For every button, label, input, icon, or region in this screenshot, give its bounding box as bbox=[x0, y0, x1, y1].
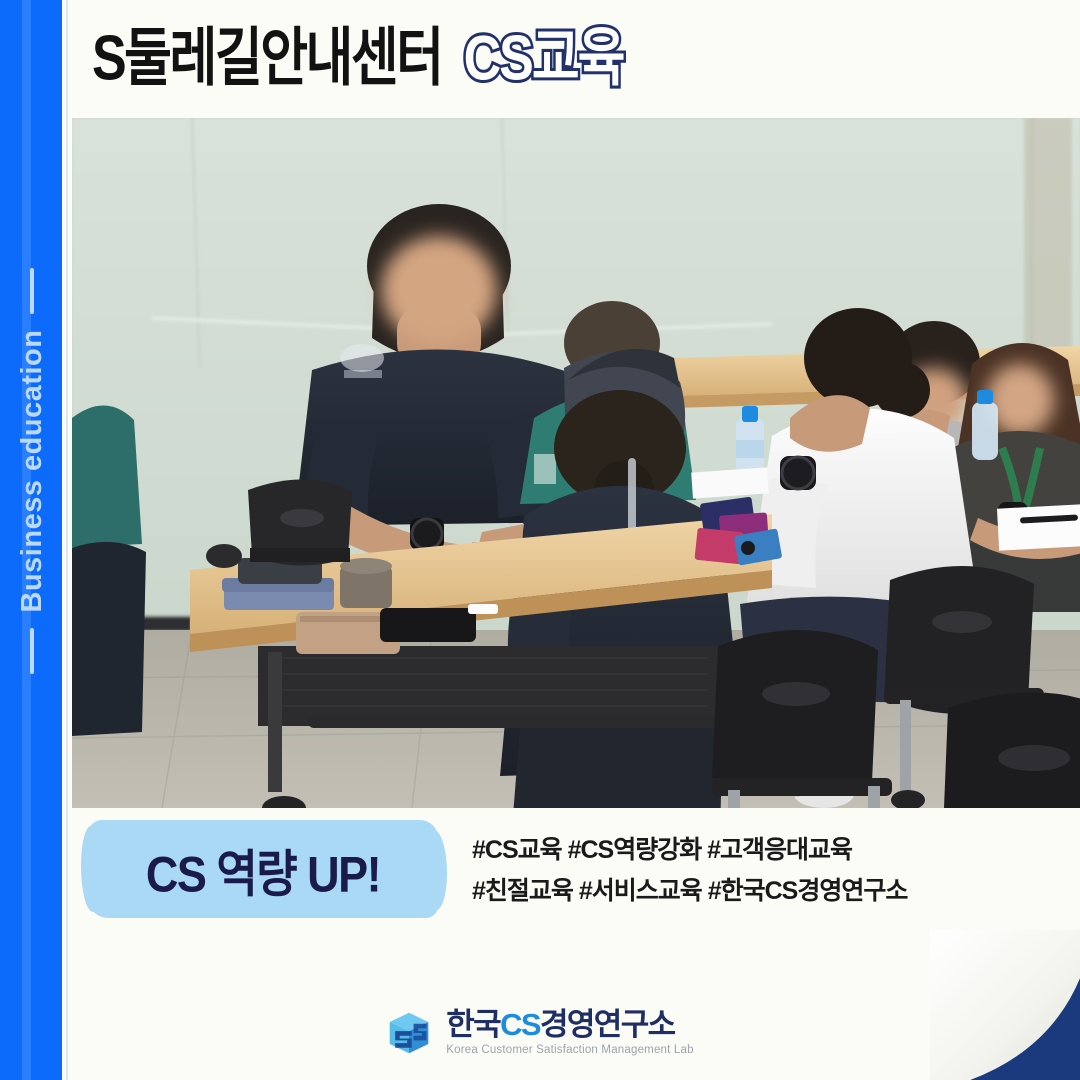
dash-icon bbox=[30, 628, 34, 674]
photo-illustration bbox=[72, 118, 1080, 808]
brand-subtitle: Korea Customer Satisfaction Management L… bbox=[446, 1045, 693, 1057]
sidebar-hairline bbox=[66, 0, 68, 1080]
promo-card: Business education S둘레길안내센터 CS교육 bbox=[0, 0, 1080, 1080]
brand-wordmark: 한국CS경영연구소 Korea Customer Satisfaction Ma… bbox=[446, 1009, 693, 1057]
brand-suffix: 경영연구소 bbox=[540, 1007, 675, 1042]
hashtag-line: #친절교육 #서비스교육 #한국CS경영연구소 bbox=[472, 871, 1072, 912]
brand-name: 한국CS경영연구소 bbox=[446, 1009, 674, 1040]
hashtag-line: #CS교육 #CS역량강화 #고객응대교육 bbox=[472, 830, 1072, 871]
sidebar-vertical-label: Business education bbox=[1, 231, 63, 711]
badge-label: CS 역량 UP! bbox=[146, 833, 380, 906]
hashtag-block: #CS교육 #CS역량강화 #고객응대교육 #친절교육 #서비스교육 #한국CS… bbox=[472, 830, 1072, 911]
page-title: S둘레길안내센터 bbox=[92, 27, 442, 90]
sidebar-label-text: Business education bbox=[16, 330, 49, 613]
highlight-badge: CS 역량 UP! bbox=[88, 820, 438, 918]
brand-cs: CS bbox=[500, 1007, 540, 1042]
caption-band: CS 역량 UP! #CS교육 #CS역량강화 #고객응대교육 #친절교육 #서… bbox=[72, 808, 1080, 938]
page-title-accent: CS교육 bbox=[464, 27, 624, 90]
dash-icon bbox=[30, 268, 34, 314]
card-header: S둘레길안내센터 CS교육 bbox=[70, 0, 1080, 118]
training-photo bbox=[72, 118, 1080, 808]
brand-footer: 한국CS경영연구소 Korea Customer Satisfaction Ma… bbox=[0, 985, 1080, 1080]
brand-prefix: 한국 bbox=[446, 1007, 500, 1042]
cube-logo-icon bbox=[386, 1010, 432, 1056]
